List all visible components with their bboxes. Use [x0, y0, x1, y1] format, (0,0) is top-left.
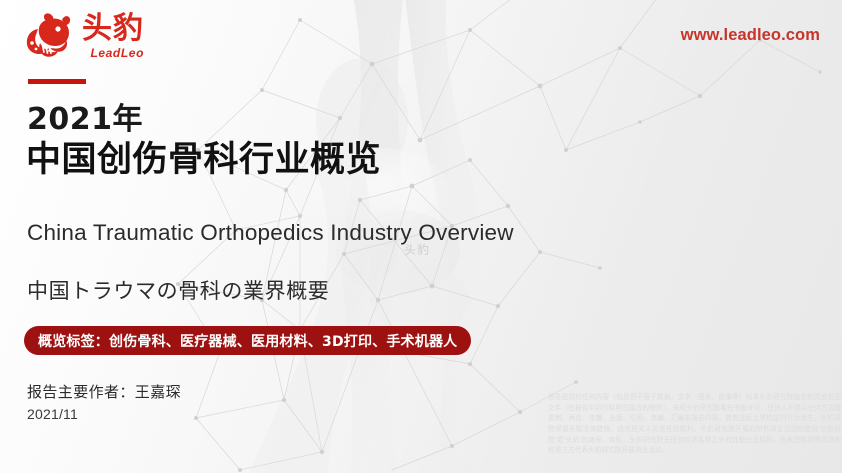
website-url[interactable]: www.leadleo.com [681, 26, 820, 45]
logo-text-en: LeadLeo [82, 47, 144, 59]
logo-text-cn: 头豹 [82, 14, 144, 44]
page-title: 中国创伤骨科行业概览 [26, 140, 381, 180]
report-author: 报告主要作者：王嘉琛 [27, 381, 181, 402]
report-date: 2021/11 [27, 406, 78, 422]
title-accent-rule [28, 79, 86, 84]
title-year: 2021年 [27, 103, 143, 138]
title-english: China Traumatic Orthopedics Industry Ove… [27, 220, 514, 246]
leopard-head-icon [24, 12, 76, 60]
legal-disclaimer: 报告提供的任何内容（包括但不限于数据、文字、图表、图像等）均系头豹研究院独有的高… [548, 392, 842, 456]
brand-logo[interactable]: 头豹 LeadLeo [24, 12, 144, 60]
report-cover-slide: 头豹 [0, 0, 842, 473]
overview-tags-badge: 概览标签：创伤骨科、医疗器械、医用材料、3D打印、手术机器人 [24, 326, 471, 355]
title-japanese: 中国トラウマの骨科の業界概要 [27, 275, 329, 305]
